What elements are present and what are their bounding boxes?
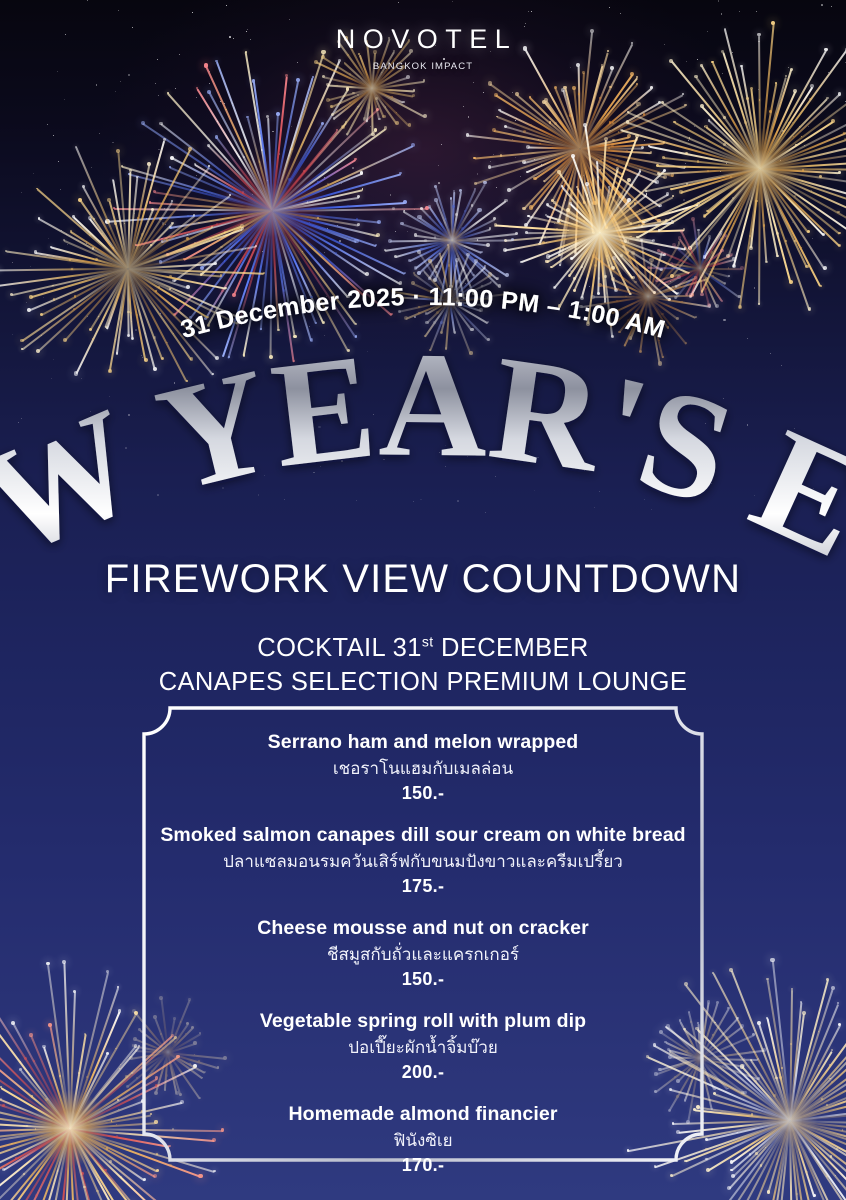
section-line-canapes: CANAPES SELECTION PREMIUM LOUNGE xyxy=(0,666,846,700)
event-date-text: 31 December 2025 · 11:00 PM – 1:00 AM xyxy=(178,283,669,344)
menu-item-name-th: เชอราโนแฮมกับเมลล่อน xyxy=(120,757,726,782)
section-line-cocktail: COCKTAIL 31st DECEMBER xyxy=(0,632,846,666)
event-date-arc: 31 December 2025 · 11:00 PM – 1:00 AM xyxy=(73,252,773,392)
menu-item-price: 175.- xyxy=(120,876,726,897)
list-item: Smoked salmon canapes dill sour cream on… xyxy=(120,823,726,897)
section-heading: COCKTAIL 31st DECEMBER CANAPES SELECTION… xyxy=(0,632,846,700)
list-item: Serrano ham and melon wrapped เชอราโนแฮม… xyxy=(120,730,726,804)
menu-item-name-en: Serrano ham and melon wrapped xyxy=(120,730,726,755)
menu-item-name-th: ปอเปี๊ยะผักน้ำจิ้มบ๊วย xyxy=(120,1036,726,1061)
menu-item-price: 170.- xyxy=(120,1155,726,1176)
menu-item-name-en: Smoked salmon canapes dill sour cream on… xyxy=(120,823,726,848)
menu-item-name-en: Vegetable spring roll with plum dip xyxy=(120,1009,726,1034)
menu-item-name-en: Cheese mousse and nut on cracker xyxy=(120,916,726,941)
menu-item-name-th: ชีสมูสกับถั่วและแครกเกอร์ xyxy=(120,943,726,968)
menu-item-name-en: Homemade almond financier xyxy=(120,1102,726,1127)
menu-list: Serrano ham and melon wrapped เชอราโนแฮม… xyxy=(120,730,726,1176)
section-line-cocktail-post: DECEMBER xyxy=(434,634,589,662)
list-item: Cheese mousse and nut on cracker ชีสมูสก… xyxy=(120,916,726,990)
novotel-logo: NOVOTEL BANGKOK IMPACT xyxy=(0,24,846,72)
brand-name: NOVOTEL xyxy=(0,24,846,55)
menu-item-name-th: ฟินังซิเย xyxy=(120,1129,726,1154)
list-item: Vegetable spring roll with plum dip ปอเป… xyxy=(120,1009,726,1083)
list-item: Homemade almond financier ฟินังซิเย 170.… xyxy=(120,1102,726,1176)
menu-item-name-th: ปลาแซลมอนรมควันเสิร์ฟกับขนมปังขาวและครีม… xyxy=(120,850,726,875)
menu-item-price: 150.- xyxy=(120,969,726,990)
poster-root: NOVOTEL BANGKOK IMPACT 31 December 2025 … xyxy=(0,0,846,1200)
ordinal-suffix: st xyxy=(422,634,434,650)
menu-item-price: 150.- xyxy=(120,783,726,804)
brand-tagline: BANGKOK IMPACT xyxy=(0,61,846,72)
section-line-cocktail-pre: COCKTAIL 31 xyxy=(257,634,422,662)
menu-item-price: 200.- xyxy=(120,1062,726,1083)
